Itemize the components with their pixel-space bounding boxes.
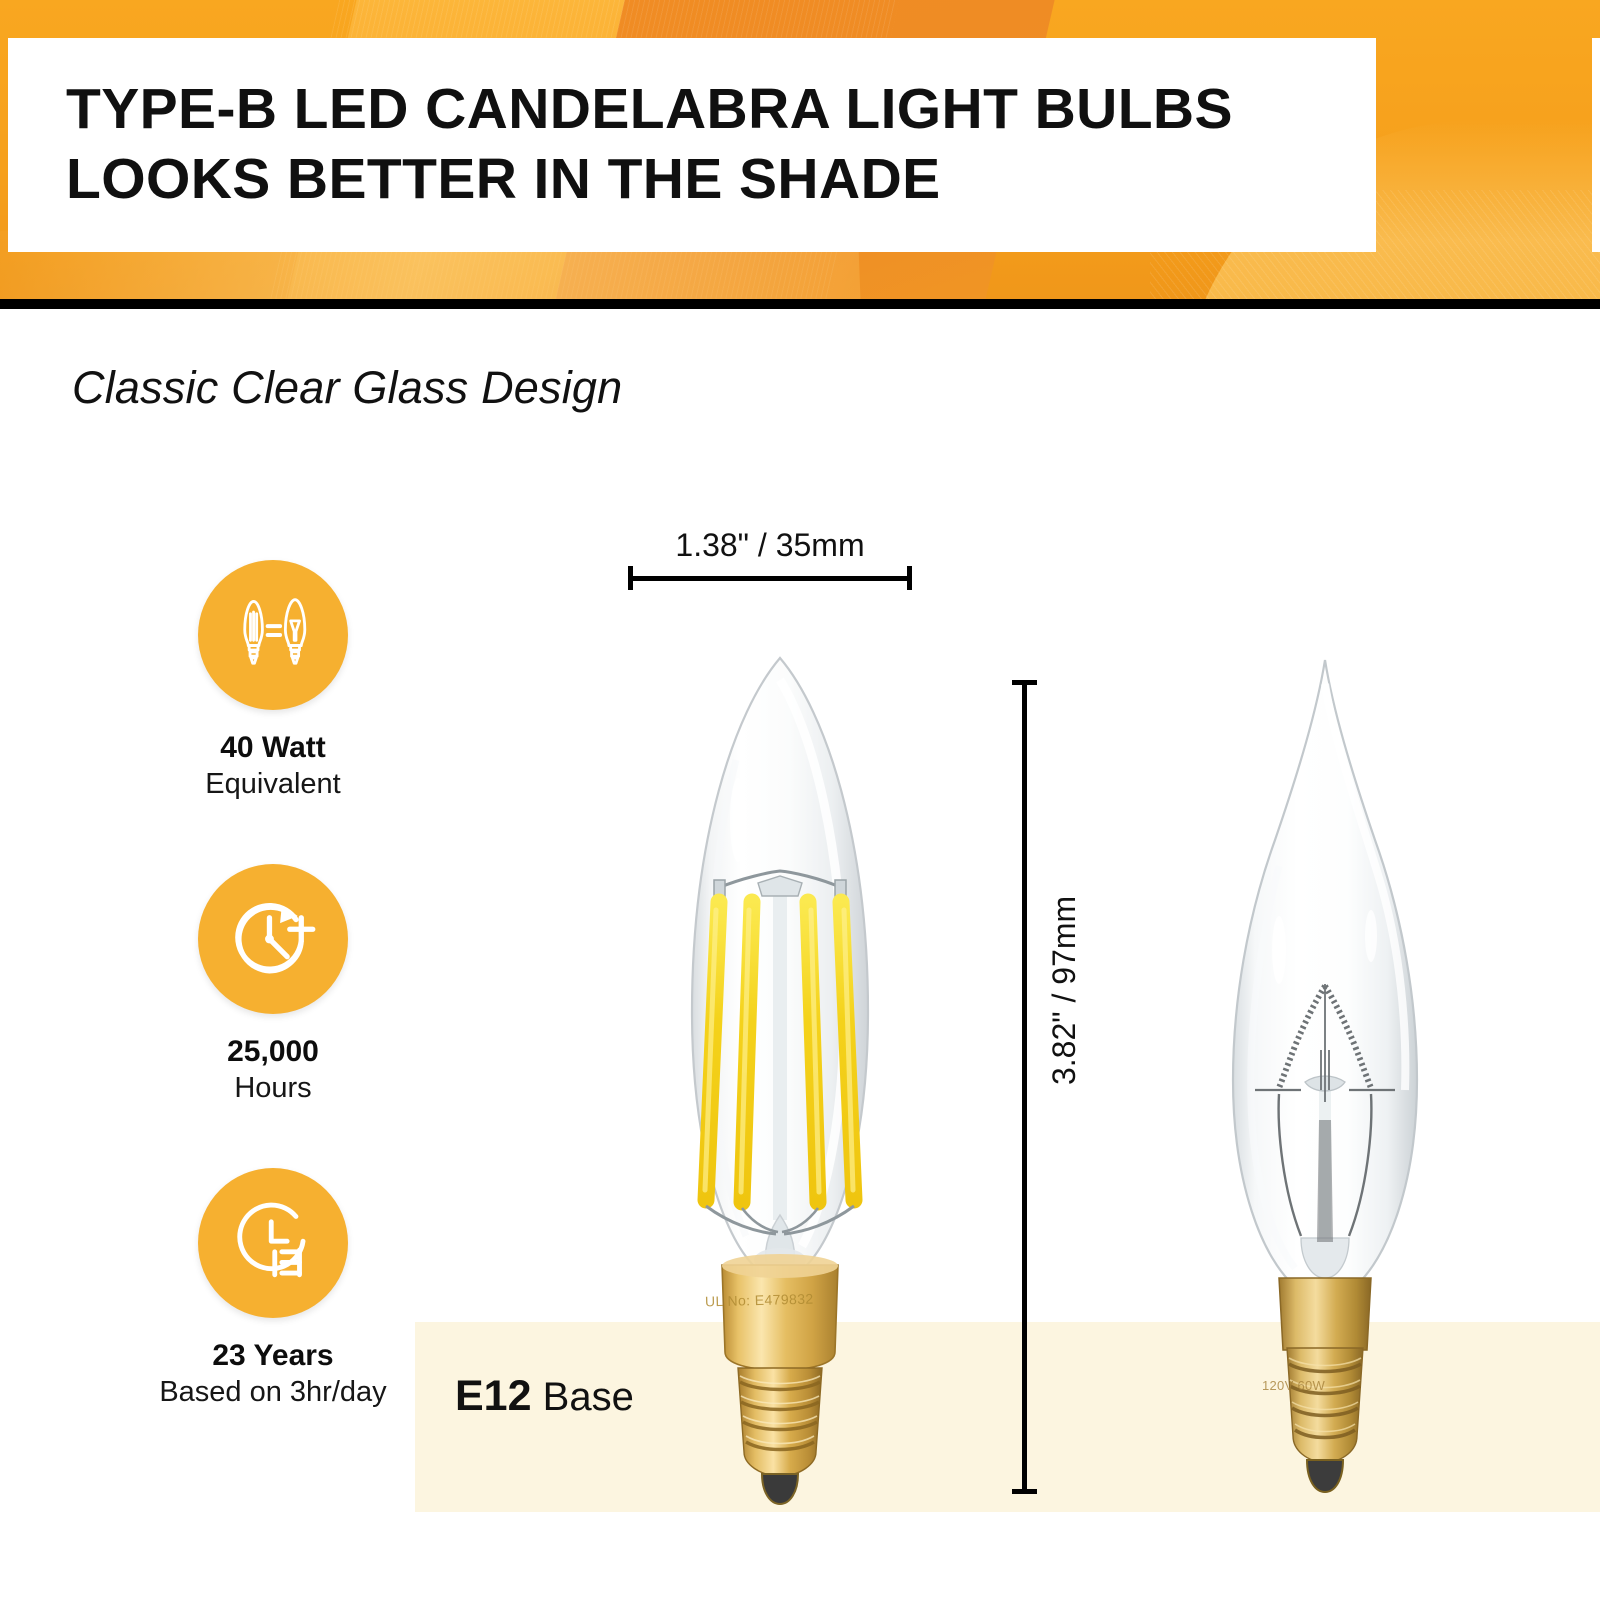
section-subtitle: Classic Clear Glass Design (72, 362, 622, 414)
ul-marking-text: UL No: E479832 (705, 1291, 814, 1310)
feature-item-hours: 25,000 Hours (108, 864, 438, 1106)
bulb-gold-base (1279, 1278, 1371, 1350)
bulb-gold-cap (722, 1265, 838, 1370)
page-title-line-1: TYPE-B LED CANDELABRA LIGHT BULBS (66, 75, 1376, 145)
height-dimension-line (1012, 680, 1036, 1494)
infographic-page: TYPE-B LED CANDELABRA LIGHT BULBS LOOKS … (0, 0, 1600, 1600)
page-title-line-2: LOOKS BETTER IN THE SHADE (66, 145, 1376, 215)
dim-cap-bottom (1012, 1489, 1037, 1494)
clock-calendar-icon (198, 1168, 348, 1318)
feature-title: 40 Watt (108, 730, 438, 767)
feature-title: 23 Years (108, 1338, 438, 1375)
title-card: TYPE-B LED CANDELABRA LIGHT BULBS LOOKS … (8, 38, 1376, 252)
base-type-label: E12 Base (455, 1372, 634, 1421)
clock-plus-icon (198, 864, 348, 1014)
dim-cap-right (907, 566, 912, 590)
feature-title: 25,000 (108, 1034, 438, 1071)
base-word: Base (543, 1375, 634, 1419)
feature-subtitle: Hours (108, 1071, 438, 1106)
dim-bar (1022, 680, 1027, 1494)
base-code: E12 (455, 1372, 532, 1420)
feature-item-years: 23 Years Based on 3hr/day (108, 1168, 438, 1410)
width-dimension-line (628, 566, 912, 588)
header-divider-bar (0, 299, 1600, 309)
dim-bar (628, 576, 912, 581)
feature-subtitle: Based on 3hr/day (108, 1375, 438, 1410)
height-dimension-label: 3.82" / 97mm (1046, 896, 1083, 1085)
header-right-strip (1592, 38, 1600, 252)
width-dimension-label: 1.38" / 35mm (628, 527, 912, 564)
led-filament-candelabra-bulb (630, 640, 930, 1520)
feature-list: 40 Watt Equivalent 25,000 (108, 560, 438, 1410)
feature-item-wattage: 40 Watt Equivalent (108, 560, 438, 802)
feature-subtitle: Equivalent (108, 767, 438, 802)
two-bulbs-equals-icon (198, 560, 348, 710)
incandescent-base-marking: 120V 60W (1262, 1378, 1325, 1393)
